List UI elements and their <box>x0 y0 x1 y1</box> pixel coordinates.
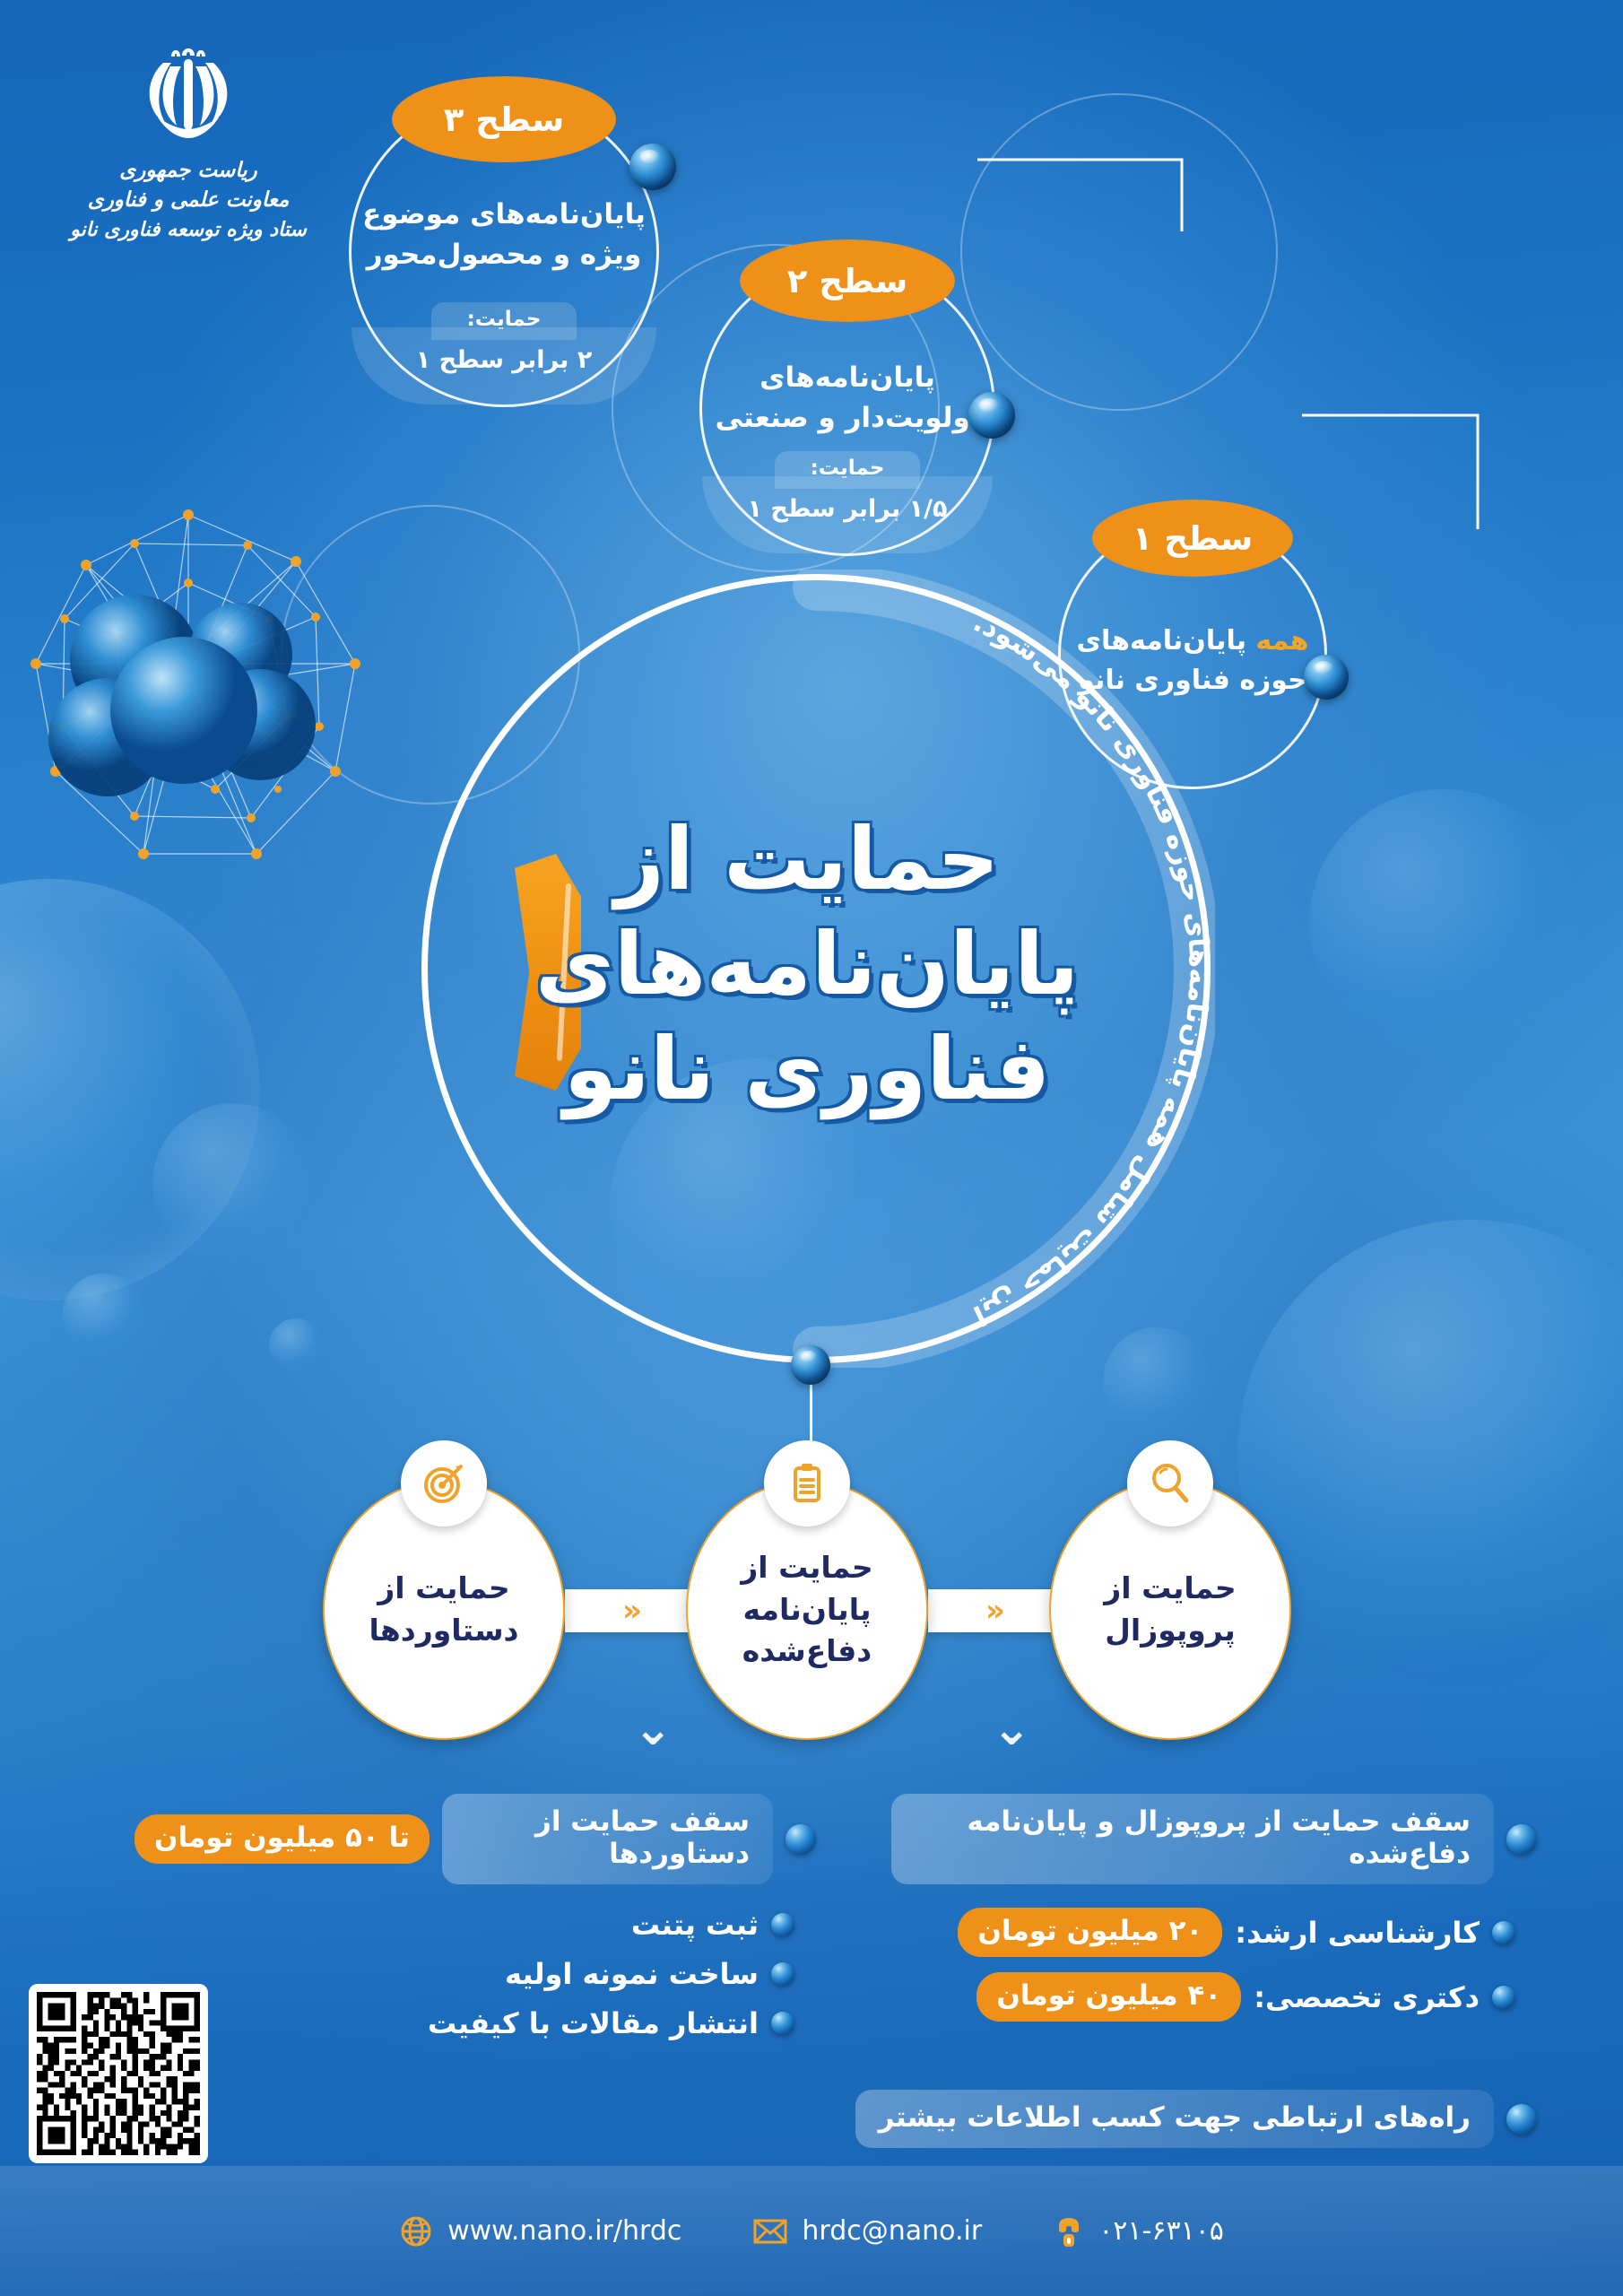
process-label-defended-thesis: حمایت از پایان‌نامه دفاع‌شده <box>688 1547 926 1674</box>
level-1-badge: سطح ۱ <box>1092 500 1293 577</box>
info-row-papers: انتشار مقالات با کیفیت <box>135 2006 816 2040</box>
level-3-circle[interactable]: سطح ۳ پایان‌نامه‌های موضوع ویژه و محصول‌… <box>349 97 659 407</box>
qr-code[interactable] <box>29 1984 208 2163</box>
level-3-badge: سطح ۳ <box>392 76 616 162</box>
contact-phone-value: ۰۲۱-۶۳۱۰۵ <box>1098 2215 1224 2247</box>
info-row-phd-label: دکتری تخصصی: <box>1254 1980 1480 2014</box>
process-row: « « حمایت از پروپوزال <box>323 1453 1291 1704</box>
contact-phone[interactable]: ۰۲۱-۶۳۱۰۵ <box>1054 2214 1224 2248</box>
node-sphere-level3 <box>629 143 676 190</box>
footer-heading-text: راه‌های ارتباطی جهت کسب اطلاعات بیشتر <box>855 2090 1494 2148</box>
node-sphere-level1 <box>1304 655 1349 700</box>
title-line-3: فناوری نانو <box>493 1017 1121 1122</box>
info-row-patent-label: ثبت پتنت <box>631 1908 759 1942</box>
bullet-sphere-icon <box>1506 2104 1537 2135</box>
chevron-down-icon: ⌄ <box>992 1702 1031 1756</box>
bullet-sphere-icon <box>1492 1986 1515 2009</box>
level-2-support-value: ۱/۵ برابر سطح ۱ <box>702 495 993 523</box>
email-icon <box>753 2218 787 2245</box>
decorative-bubble <box>63 1274 143 1354</box>
info-row-prototype: ساخت نمونه اولیه <box>135 1957 816 1991</box>
phone-icon <box>1054 2214 1084 2248</box>
decorative-bubble <box>1237 1220 1623 1686</box>
level-2-support: حمایت: ۱/۵ برابر سطح ۱ <box>702 451 993 523</box>
process-step-defended-thesis[interactable]: حمایت از پایان‌نامه دفاع‌شده <box>686 1480 928 1740</box>
bullet-sphere-icon <box>771 2012 794 2035</box>
chevron-down-icon: ⌄ <box>633 1702 673 1756</box>
level-1-title-highlight: همه <box>1255 625 1308 657</box>
info-heading-proposal: سقف حمایت از پروپوزال و پایان‌نامه دفاع‌… <box>891 1794 1537 1884</box>
footer-heading: راه‌های ارتباطی جهت کسب اطلاعات بیشتر <box>855 2090 1537 2148</box>
title-line-2: پایان‌نامه‌های <box>493 912 1121 1017</box>
level-2-title: پایان‌نامه‌های اولویت‌دار و صنعتی <box>711 358 985 439</box>
bullet-sphere-icon <box>771 1962 794 1986</box>
node-sphere-level2 <box>968 392 1015 439</box>
process-label-achievements: حمایت از دستاوردها <box>325 1568 563 1652</box>
decorative-bubble <box>269 1318 323 1372</box>
level-2-circle[interactable]: سطح ۲ پایان‌نامه‌های اولویت‌دار و صنعتی … <box>699 260 995 556</box>
level-2-badge: سطح ۲ <box>740 239 955 322</box>
contact-email-value: hrdc@nano.ir <box>802 2215 982 2247</box>
info-row-masters: کارشناسی ارشد: ۲۰ میلیون تومان <box>891 1908 1537 1957</box>
process-bridge-2: « <box>565 1589 699 1632</box>
bullet-sphere-icon <box>1492 1921 1515 1944</box>
info-row-masters-label: کارشناسی ارشد: <box>1235 1916 1480 1950</box>
info-heading-achievements-amount: تا ۵۰ میلیون تومان <box>135 1814 430 1864</box>
info-column-achievements: سقف حمایت از دستاوردها تا ۵۰ میلیون توما… <box>135 1794 816 2040</box>
page-title: حمایت از پایان‌نامه‌های فناوری نانو <box>493 807 1121 1122</box>
info-column-proposal: سقف حمایت از پروپوزال و پایان‌نامه دفاع‌… <box>891 1794 1537 2022</box>
process-step-proposal[interactable]: حمایت از پروپوزال <box>1049 1480 1291 1740</box>
process-step-achievements[interactable]: حمایت از دستاوردها <box>323 1480 565 1740</box>
info-row-phd-amount: ۴۰ میلیون تومان <box>976 1972 1241 2022</box>
info-row-prototype-label: ساخت نمونه اولیه <box>505 1957 759 1991</box>
level-3-support-label: حمایت: <box>431 302 577 340</box>
decorative-bubble <box>152 1103 314 1265</box>
contact-website-value: www.nano.ir/hrdc <box>447 2215 681 2247</box>
info-row-patent: ثبت پتنت <box>135 1908 816 1942</box>
contact-email[interactable]: hrdc@nano.ir <box>753 2215 982 2247</box>
globe-icon <box>399 2214 433 2248</box>
clipboard-icon <box>764 1440 850 1526</box>
target-icon <box>401 1440 487 1526</box>
bullet-sphere-icon <box>771 1913 794 1936</box>
process-bridge-1: « <box>928 1589 1063 1632</box>
bullet-sphere-icon <box>785 1824 816 1855</box>
node-sphere-ring-bottom <box>791 1345 830 1385</box>
magnifier-icon <box>1127 1440 1213 1526</box>
support-ceiling-section: سقف حمایت از پروپوزال و پایان‌نامه دفاع‌… <box>0 1794 1623 2027</box>
level-3-support-value: ۲ برابر سطح ۱ <box>352 346 656 374</box>
poster-background: ریاست جمهوری معاونت علمی و فناوری ستاد و… <box>0 0 1623 2296</box>
info-row-masters-amount: ۲۰ میلیون تومان <box>958 1908 1222 1957</box>
bullet-sphere-icon <box>1506 1824 1537 1855</box>
level-2-support-label: حمایت: <box>775 451 921 489</box>
info-heading-achievements: سقف حمایت از دستاوردها تا ۵۰ میلیون توما… <box>135 1794 816 1884</box>
level-3-title: پایان‌نامه‌های موضوع ویژه و محصول‌محور <box>360 195 647 275</box>
footer-contacts: www.nano.ir/hrdc hrdc@nano.ir ۰۲۱-۶۳ <box>0 2166 1623 2296</box>
process-label-proposal: حمایت از پروپوزال <box>1051 1568 1289 1652</box>
info-row-papers-label: انتشار مقالات با کیفیت <box>428 2006 759 2040</box>
contact-website[interactable]: www.nano.ir/hrdc <box>399 2214 681 2248</box>
title-line-1: حمایت از <box>493 807 1121 912</box>
info-heading-proposal-text: سقف حمایت از پروپوزال و پایان‌نامه دفاع‌… <box>891 1794 1494 1884</box>
qr-code-image <box>37 1992 200 2155</box>
info-heading-achievements-text: سقف حمایت از دستاوردها <box>442 1794 773 1884</box>
level-3-support: حمایت: ۲ برابر سطح ۱ <box>352 302 656 374</box>
decorative-bubble <box>0 879 260 1300</box>
info-row-phd: دکتری تخصصی: ۴۰ میلیون تومان <box>891 1972 1537 2022</box>
nanoparticle-molecule-icon <box>0 502 377 879</box>
